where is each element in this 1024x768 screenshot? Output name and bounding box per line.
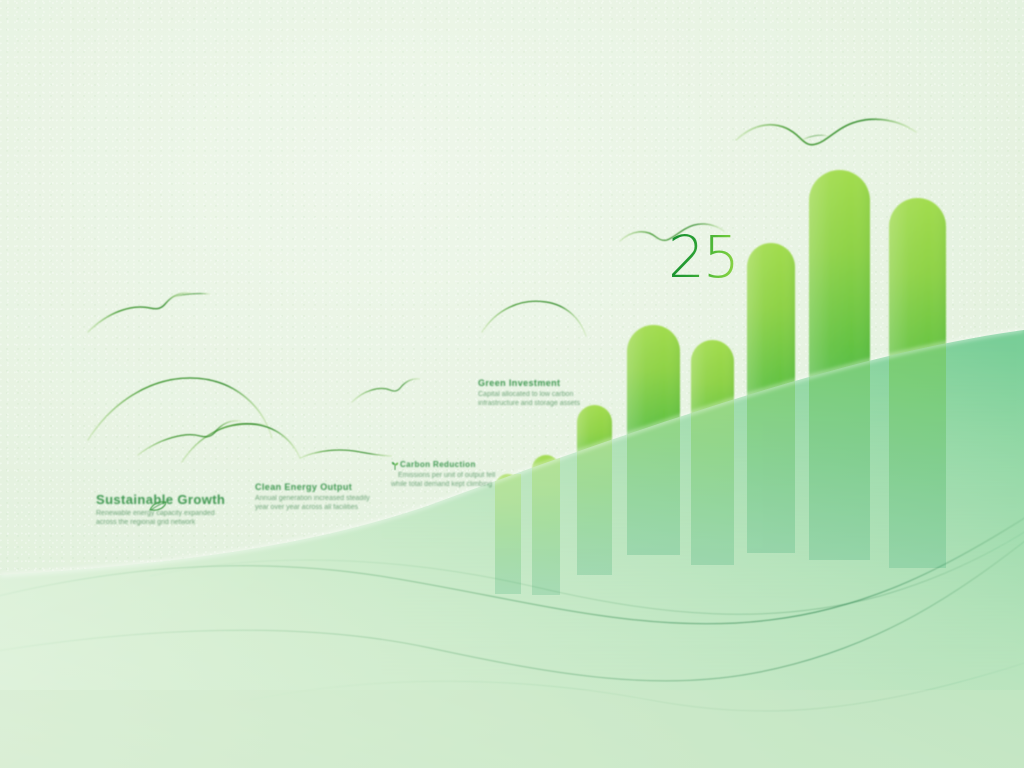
- annotation-upper-heading: Carbon Reduction: [391, 460, 495, 469]
- annotation-left[interactable]: Sustainable Growth Renewable energy capa…: [96, 492, 225, 526]
- annotation-mid-line-1: Annual generation increased steadily: [255, 495, 370, 502]
- cloud-left-tail: [300, 450, 392, 458]
- annotation-mid[interactable]: Clean Energy Output Annual generation in…: [255, 482, 370, 511]
- bird-top-right: [736, 119, 916, 144]
- bar-reflections: [0, 170, 1024, 768]
- annotation-left-line-2: across the regional grid network: [96, 519, 225, 526]
- bird-left-lower-tail: [222, 424, 266, 428]
- infographic-canvas: 25 Sustainable Growth Renewable energy c…: [0, 0, 1024, 768]
- annotation-right-line-2: infrastructure and storage assets: [478, 400, 580, 407]
- annotation-upper-line-1: Emissions per unit of output fell: [391, 472, 495, 479]
- bird-left-upper: [88, 293, 190, 332]
- leaf-icon: [148, 500, 168, 512]
- bird-left-lower: [138, 421, 240, 455]
- headline-number: 25: [668, 228, 738, 286]
- annotation-mid-line-2: year over year across all facilities: [255, 504, 370, 511]
- annotation-right-heading: Green Investment: [478, 378, 580, 388]
- annotation-upper-line-2: while total demand kept climbing: [391, 481, 495, 488]
- cloud-left-large: [88, 378, 272, 440]
- cloud-center: [482, 301, 586, 336]
- sprout-icon: [391, 461, 399, 470]
- cloud-left-small: [182, 424, 300, 462]
- bottom-vignette: [0, 690, 1024, 768]
- annotation-mid-heading: Clean Energy Output: [255, 482, 370, 492]
- annotation-right[interactable]: Green Investment Capital allocated to lo…: [478, 378, 580, 407]
- annotation-upper[interactable]: Carbon Reduction Emissions per unit of o…: [391, 460, 495, 488]
- bird-small-mid: [352, 379, 420, 402]
- annotation-right-line-1: Capital allocated to low carbon: [478, 391, 580, 398]
